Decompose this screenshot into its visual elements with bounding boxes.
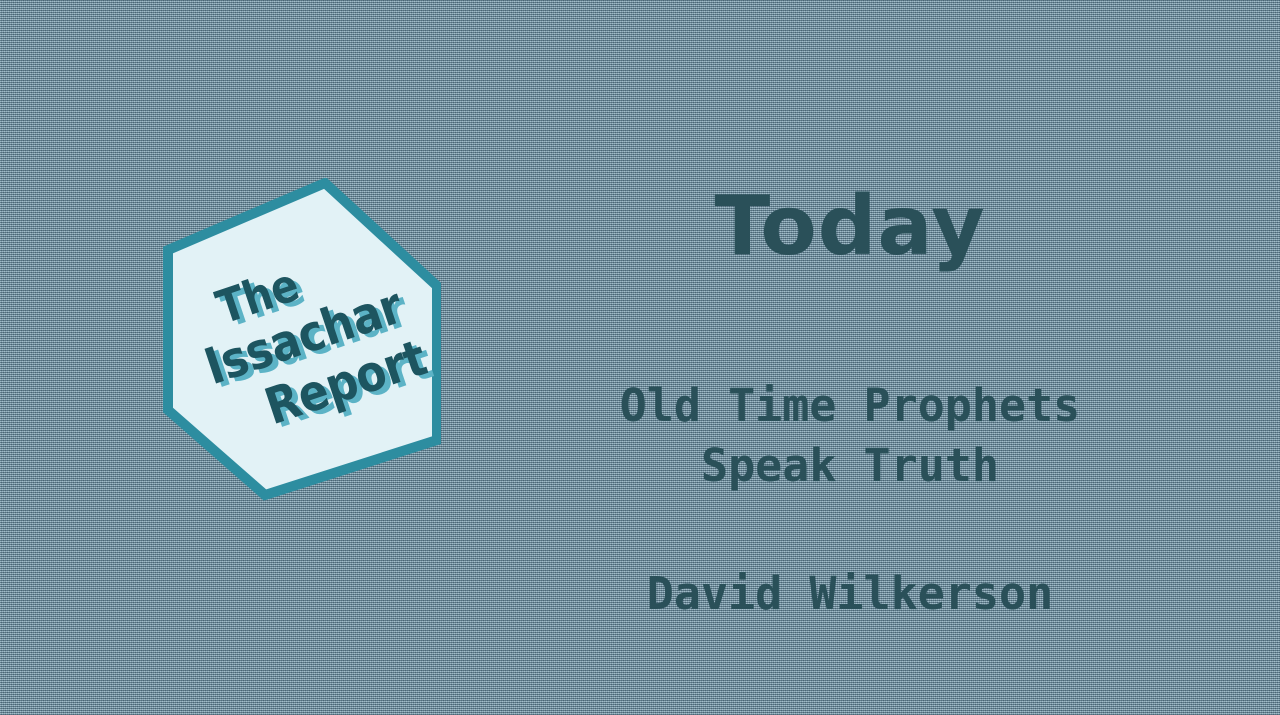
- slide-canvas: The Issachar Report Today Old Time Proph…: [0, 0, 1280, 715]
- subtitle-line-1: Old Time Prophets: [560, 376, 1140, 436]
- page-title: Today: [560, 186, 1140, 268]
- subtitle-line-2: Speak Truth: [560, 436, 1140, 496]
- hexagon-icon: [163, 178, 441, 503]
- slide-subtitle: Old Time Prophets Speak Truth: [560, 376, 1140, 497]
- slide-text-column: Today Old Time Prophets Speak Truth Davi…: [560, 0, 1140, 715]
- speaker-name: David Wilkerson: [560, 571, 1140, 616]
- issachar-report-logo[interactable]: The Issachar Report: [163, 178, 441, 503]
